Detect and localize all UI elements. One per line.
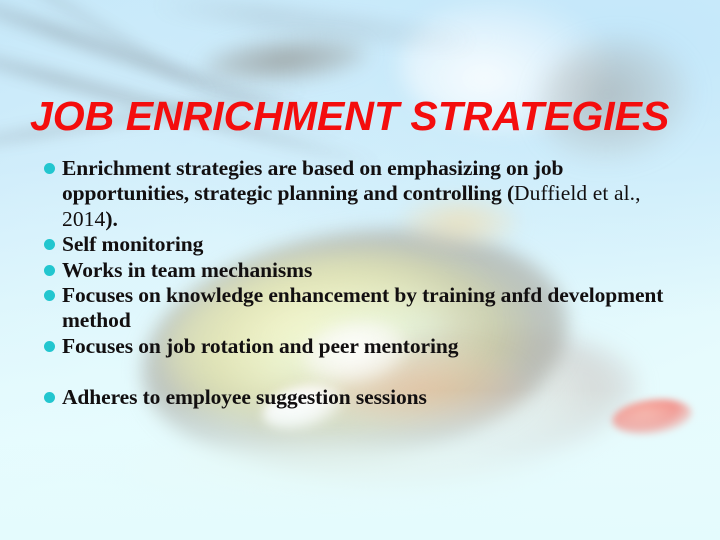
bullet-dot-icon [44,239,55,250]
list-item: Focuses on job rotation and peer mentori… [38,334,688,359]
slide-canvas: JOB ENRICHMENT STRATEGIES Enrichment str… [0,0,720,540]
bullet-dot-icon [44,265,55,276]
bullet-dot-icon [44,341,55,352]
bullet-dot-icon [44,163,55,174]
list-item: Adheres to employee suggestion sessions [38,385,688,410]
list-item-label: Enrichment strategies are based on empha… [62,156,563,205]
list-item: Self monitoring [38,232,688,257]
list-item-label-tail: ). [105,207,117,231]
bullet-dot-icon [44,290,55,301]
slide-content: JOB ENRICHMENT STRATEGIES Enrichment str… [0,0,720,540]
list-item-label: Adheres to employee suggestion sessions [62,385,427,409]
list-item: Enrichment strategies are based on empha… [38,156,688,232]
list-item: Works in team mechanisms [38,258,688,283]
blank-line [38,359,688,384]
list-item-label: Focuses on job rotation and peer mentori… [62,334,458,358]
page-title: JOB ENRICHMENT STRATEGIES [30,96,690,137]
bullet-list: Enrichment strategies are based on empha… [38,156,688,410]
list-item-label: Self monitoring [62,232,203,256]
list-item: Focuses on knowledge enhancement by trai… [38,283,688,334]
list-item-label: Works in team mechanisms [62,258,312,282]
list-item-label: Focuses on knowledge enhancement by trai… [62,283,663,332]
bullet-dot-icon [44,392,55,403]
